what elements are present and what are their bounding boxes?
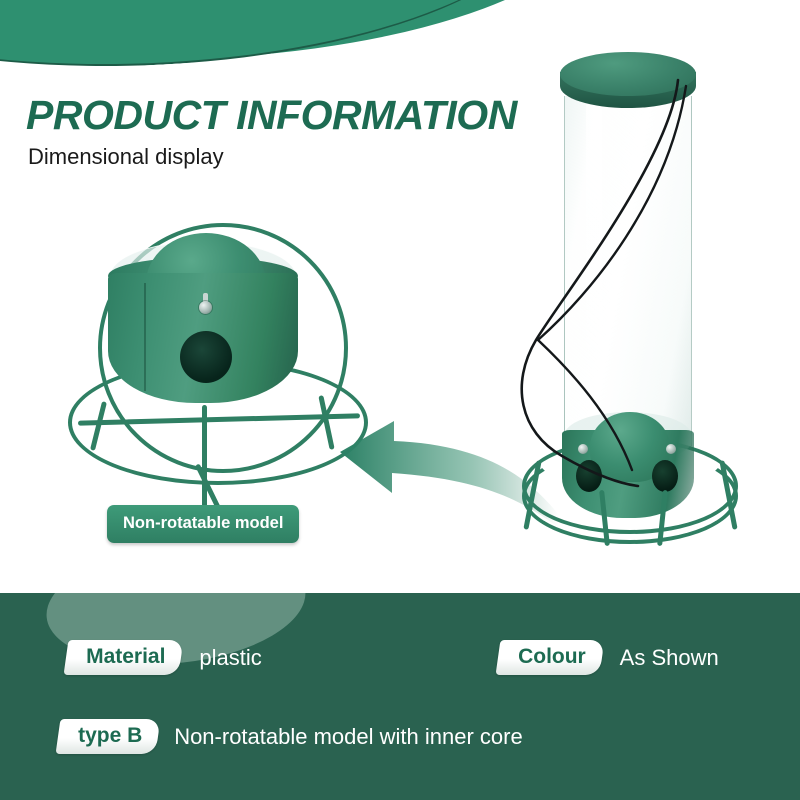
spec-value-material: plastic (199, 645, 261, 671)
wire-leg-center-icon (202, 405, 207, 515)
spec-value-colour: As Shown (620, 645, 719, 671)
wire-hanger-icon (500, 40, 780, 560)
spec-row-colour: Colour As Shown (498, 640, 719, 675)
cylinder-seam-icon (144, 283, 146, 391)
feeding-port-hole-icon (180, 331, 232, 383)
screw-icon (199, 301, 212, 314)
spec-label-colour: Colour (518, 645, 586, 669)
spec-row-material: Material plastic (66, 640, 262, 675)
spec-panel (0, 593, 800, 800)
top-swoosh-decoration (0, 0, 557, 87)
spec-row-type: type B Non-rotatable model with inner co… (58, 719, 523, 754)
spec-label-pill-type: type B (56, 719, 161, 754)
bird-feeder-tube-icon (500, 40, 780, 560)
spec-label-material: Material (86, 645, 165, 669)
page-title: PRODUCT INFORMATION (26, 92, 517, 139)
non-rotatable-model-badge: Non-rotatable model (107, 505, 299, 543)
page-subtitle: Dimensional display (28, 144, 224, 170)
spec-label-pill-colour: Colour (496, 640, 605, 675)
spec-value-type: Non-rotatable model with inner core (174, 724, 523, 750)
product-information-page: PRODUCT INFORMATION Dimensional display (0, 0, 800, 800)
spec-label-pill-material: Material (64, 640, 184, 675)
spec-label-type: type B (78, 724, 142, 748)
